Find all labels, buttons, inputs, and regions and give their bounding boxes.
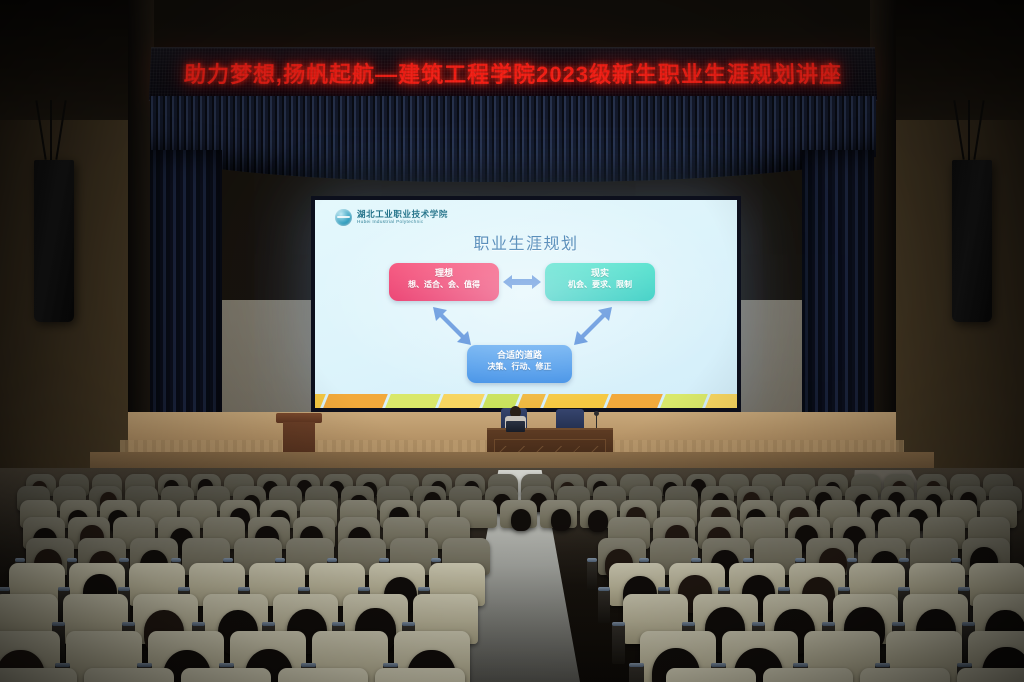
valance-pleats [150,96,876,182]
armrest-tablet [137,663,152,667]
armrest-tablet [223,558,233,562]
band-stripe [541,394,612,408]
armrest-tablet [262,622,275,626]
slide-title: 职业生涯规划 [315,230,737,254]
seat-armrest [629,663,644,682]
line-array-speaker-right [944,100,998,322]
armrest-tablet [718,587,729,591]
double-arrow-diagonal-right-icon [571,304,615,348]
laptop [506,421,525,432]
node-ideal-head: 理想 [393,268,495,279]
speaker-rigging-right [944,100,998,160]
armrest-tablet [691,558,701,562]
armrest-tablet [778,587,789,591]
armrest-tablet [52,622,65,626]
presentation-slide: 湖北工业职业技术学院 Hubei Industrial Polytechnic … [315,200,737,408]
audience-seat [957,668,1024,682]
armrest-tablet [219,663,234,667]
auditorium-photo: 助力梦想,扬帆起航—建筑工程学院2023级新生职业生涯规划讲座 湖北工业职业技术… [0,0,1024,682]
university-logo: 湖北工业职业技术学院 Hubei Industrial Polytechnic [335,209,448,226]
band-stripe [703,394,737,408]
audience-member [551,509,571,531]
armrest-tablet [743,558,753,562]
logo-name-cn: 湖北工业职业技术学院 [357,210,448,219]
armrest-tablet [275,558,285,562]
armrest-tablet [795,558,805,562]
audience-seat [84,668,174,682]
audience-seat [860,668,950,682]
armrest-tablet [122,622,135,626]
speaker-cabinet-left [34,160,74,322]
armrest-tablet [332,622,345,626]
armrest-tablet [962,622,975,626]
armrest-tablet [358,587,369,591]
armrest-tablet [711,663,726,667]
band-stripe [604,394,666,408]
led-banner: 助力梦想,扬帆起航—建筑工程学院2023级新生职业生涯规划讲座 [149,47,877,101]
armrest-tablet [957,663,972,667]
node-reality-head: 现实 [549,268,651,279]
armrest-tablet [958,587,969,591]
armrest-tablet [682,622,695,626]
armrest-tablet [752,622,765,626]
armrest-tablet [67,558,77,562]
armrest-tablet [383,663,398,667]
globe-icon [335,209,352,226]
armrest-tablet [301,663,316,667]
double-arrow-diagonal-left-icon [430,304,474,348]
armrest-tablet [118,587,129,591]
armrest-tablet [0,587,10,591]
armrest-tablet [402,622,415,626]
armrest-tablet [238,587,249,591]
band-stripe [321,394,391,408]
band-stripe [436,394,488,408]
armrest-tablet [418,587,429,591]
seat-armrest [587,558,597,589]
armrest-tablet [178,587,189,591]
projection-screen: 湖北工业职业技术学院 Hubei Industrial Polytechnic … [311,196,741,412]
microphone-icon [596,414,597,428]
line-array-speaker-left [26,100,80,322]
audience-member [588,510,608,532]
stage-valance [150,96,876,182]
audience-seat [666,668,756,682]
slide-bottom-band [315,394,737,408]
banner-text: 助力梦想,扬帆起航—建筑工程学院2023级新生职业生涯规划讲座 [149,57,876,89]
armrest-tablet [55,663,70,667]
node-reality-sub: 机会、要求、限制 [549,280,651,290]
armrest-tablet [793,663,808,667]
armrest-tablet [838,587,849,591]
node-path-sub: 决策、行动、修正 [471,362,568,372]
audience-member [511,509,531,531]
seat-armrest [612,622,625,665]
armrest-tablet [327,558,337,562]
armrest-tablet [587,558,597,562]
audience-seat [181,668,271,682]
audience-seat [375,668,465,682]
armrest-tablet [612,622,625,626]
armrest-tablet [822,622,835,626]
armrest-tablet [951,558,961,562]
armrest-tablet [15,558,25,562]
node-path-head: 合适的道路 [471,350,568,361]
speaker-cabinet-right [952,160,992,322]
armrest-tablet [658,587,669,591]
diagram-node-ideal: 理想 想、适合、会、值得 [389,263,499,301]
speaker-rigging-left [26,100,80,160]
node-ideal-sub: 想、适合、会、值得 [393,280,495,290]
armrest-tablet [298,587,309,591]
armrest-tablet [192,622,205,626]
armrest-tablet [379,558,389,562]
audience-seat [763,668,853,682]
armrest-tablet [847,558,857,562]
side-curtain-left [150,150,222,450]
logo-name-en: Hubei Industrial Polytechnic [357,220,448,225]
audience-seat [0,668,77,682]
side-curtain-right [802,150,874,450]
armrest-tablet [171,558,181,562]
armrest-tablet [58,587,69,591]
seat-armrest [598,587,609,624]
armrest-tablet [119,558,129,562]
armrest-tablet [875,663,890,667]
double-arrow-horizontal-icon [503,274,541,290]
armrest-tablet [639,558,649,562]
armrest-tablet [598,587,609,591]
diagram-node-reality: 现实 机会、要求、限制 [545,263,655,301]
armrest-tablet [892,622,905,626]
armrest-tablet [898,587,909,591]
armrest-tablet [431,558,441,562]
armrest-tablet [899,558,909,562]
audience-seat [278,668,368,682]
band-stripe [658,394,711,408]
armrest-tablet [629,663,644,667]
diagram-node-path: 合适的道路 决策、行动、修正 [467,345,572,383]
band-stripe [383,394,444,408]
